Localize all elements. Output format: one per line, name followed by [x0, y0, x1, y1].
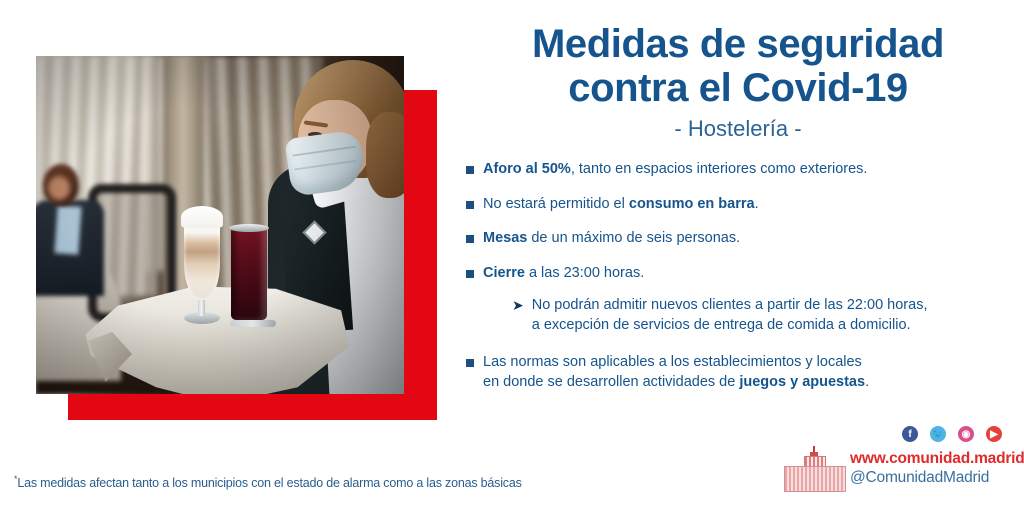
list-item-end: . [755, 196, 759, 212]
footnote: *Las medidas afectan tanto a los municip… [14, 474, 522, 490]
list-item-bold-lead: Aforo al 50% [483, 161, 571, 177]
list-item: Mesas de un máximo de seis personas. [466, 229, 1012, 249]
page-subtitle: - Hostelería - [452, 116, 1024, 142]
footnote-text: Las medidas afectan tanto a los municipi… [17, 476, 521, 490]
list-item-bold-lead: Cierre [483, 265, 525, 281]
real-casa-de-correos-logo [782, 450, 846, 492]
last-bullet-line-2-pre: en donde se desarrollen actividades de [483, 374, 739, 390]
square-bullet-icon [466, 201, 474, 209]
facebook-icon[interactable]: f [902, 426, 918, 442]
brand-block: f 🐦 ◉ ▶ www.comunidad.madrid @ComunidadM… [782, 426, 1012, 498]
list-item-bold-lead: Mesas [483, 230, 527, 246]
sub-list-line-1: No podrán admitir nuevos clientes a part… [532, 297, 928, 313]
list-item-text: Cierre a las 23:00 horas. [483, 264, 644, 284]
last-bullet-line-2-bold: juegos y apuestas [739, 374, 865, 390]
square-bullet-icon [466, 166, 474, 174]
youtube-icon[interactable]: ▶ [986, 426, 1002, 442]
list-item: Cierre a las 23:00 horas. [466, 264, 1012, 284]
brand-row: www.comunidad.madrid @ComunidadMadrid [782, 450, 1024, 492]
list-item-text: Mesas de un máximo de seis personas. [483, 229, 740, 249]
square-bullet-icon [466, 270, 474, 278]
social-handle[interactable]: @ComunidadMadrid [850, 468, 1024, 487]
list-item: Aforo al 50%, tanto en espacios interior… [466, 160, 1012, 180]
square-bullet-icon [466, 359, 474, 367]
title-line-2: contra el Covid-19 [452, 66, 1024, 110]
instagram-icon[interactable]: ◉ [958, 426, 974, 442]
page-title: Medidas de seguridad contra el Covid-19 [452, 0, 1024, 110]
website-url[interactable]: www.comunidad.madrid [850, 450, 1024, 468]
list-item-rest: a las 23:00 horas. [525, 265, 644, 281]
sub-list-item: ➤ No podrán admitir nuevos clientes a pa… [512, 296, 1012, 335]
photo-vignette [36, 56, 404, 394]
arrow-bullet-icon: ➤ [512, 296, 524, 314]
list-item: No estará permitido el consumo en barra. [466, 195, 1012, 215]
title-line-1: Medidas de seguridad [532, 22, 944, 66]
list-item-rest: No estará permitido el [483, 196, 629, 212]
social-links: f 🐦 ◉ ▶ [902, 426, 1002, 442]
list-item-text: Las normas son aplicables a los establec… [483, 353, 869, 392]
hospitality-photo [36, 56, 404, 394]
sub-list-line-2: a excepción de servicios de entrega de c… [532, 317, 911, 333]
logo-main-facade [784, 466, 846, 492]
list-item: Las normas son aplicables a los establec… [466, 353, 1012, 392]
list-item-text: No estará permitido el consumo en barra. [483, 195, 759, 215]
measures-list: Aforo al 50%, tanto en espacios interior… [452, 160, 1024, 393]
twitter-icon[interactable]: 🐦 [930, 426, 946, 442]
brand-text: www.comunidad.madrid @ComunidadMadrid [850, 450, 1024, 487]
sub-list-item-text: No podrán admitir nuevos clientes a part… [532, 296, 928, 335]
list-item-text: Aforo al 50%, tanto en espacios interior… [483, 160, 867, 180]
last-bullet-line-2-end: . [865, 374, 869, 390]
list-item-bold-tail: consumo en barra [629, 196, 755, 212]
last-bullet-line-1: Las normas son aplicables a los establec… [483, 354, 862, 370]
list-item-rest: , tanto en espacios interiores como exte… [571, 161, 868, 177]
list-item-rest: de un máximo de seis personas. [527, 230, 740, 246]
square-bullet-icon [466, 235, 474, 243]
photo-area [0, 0, 450, 440]
